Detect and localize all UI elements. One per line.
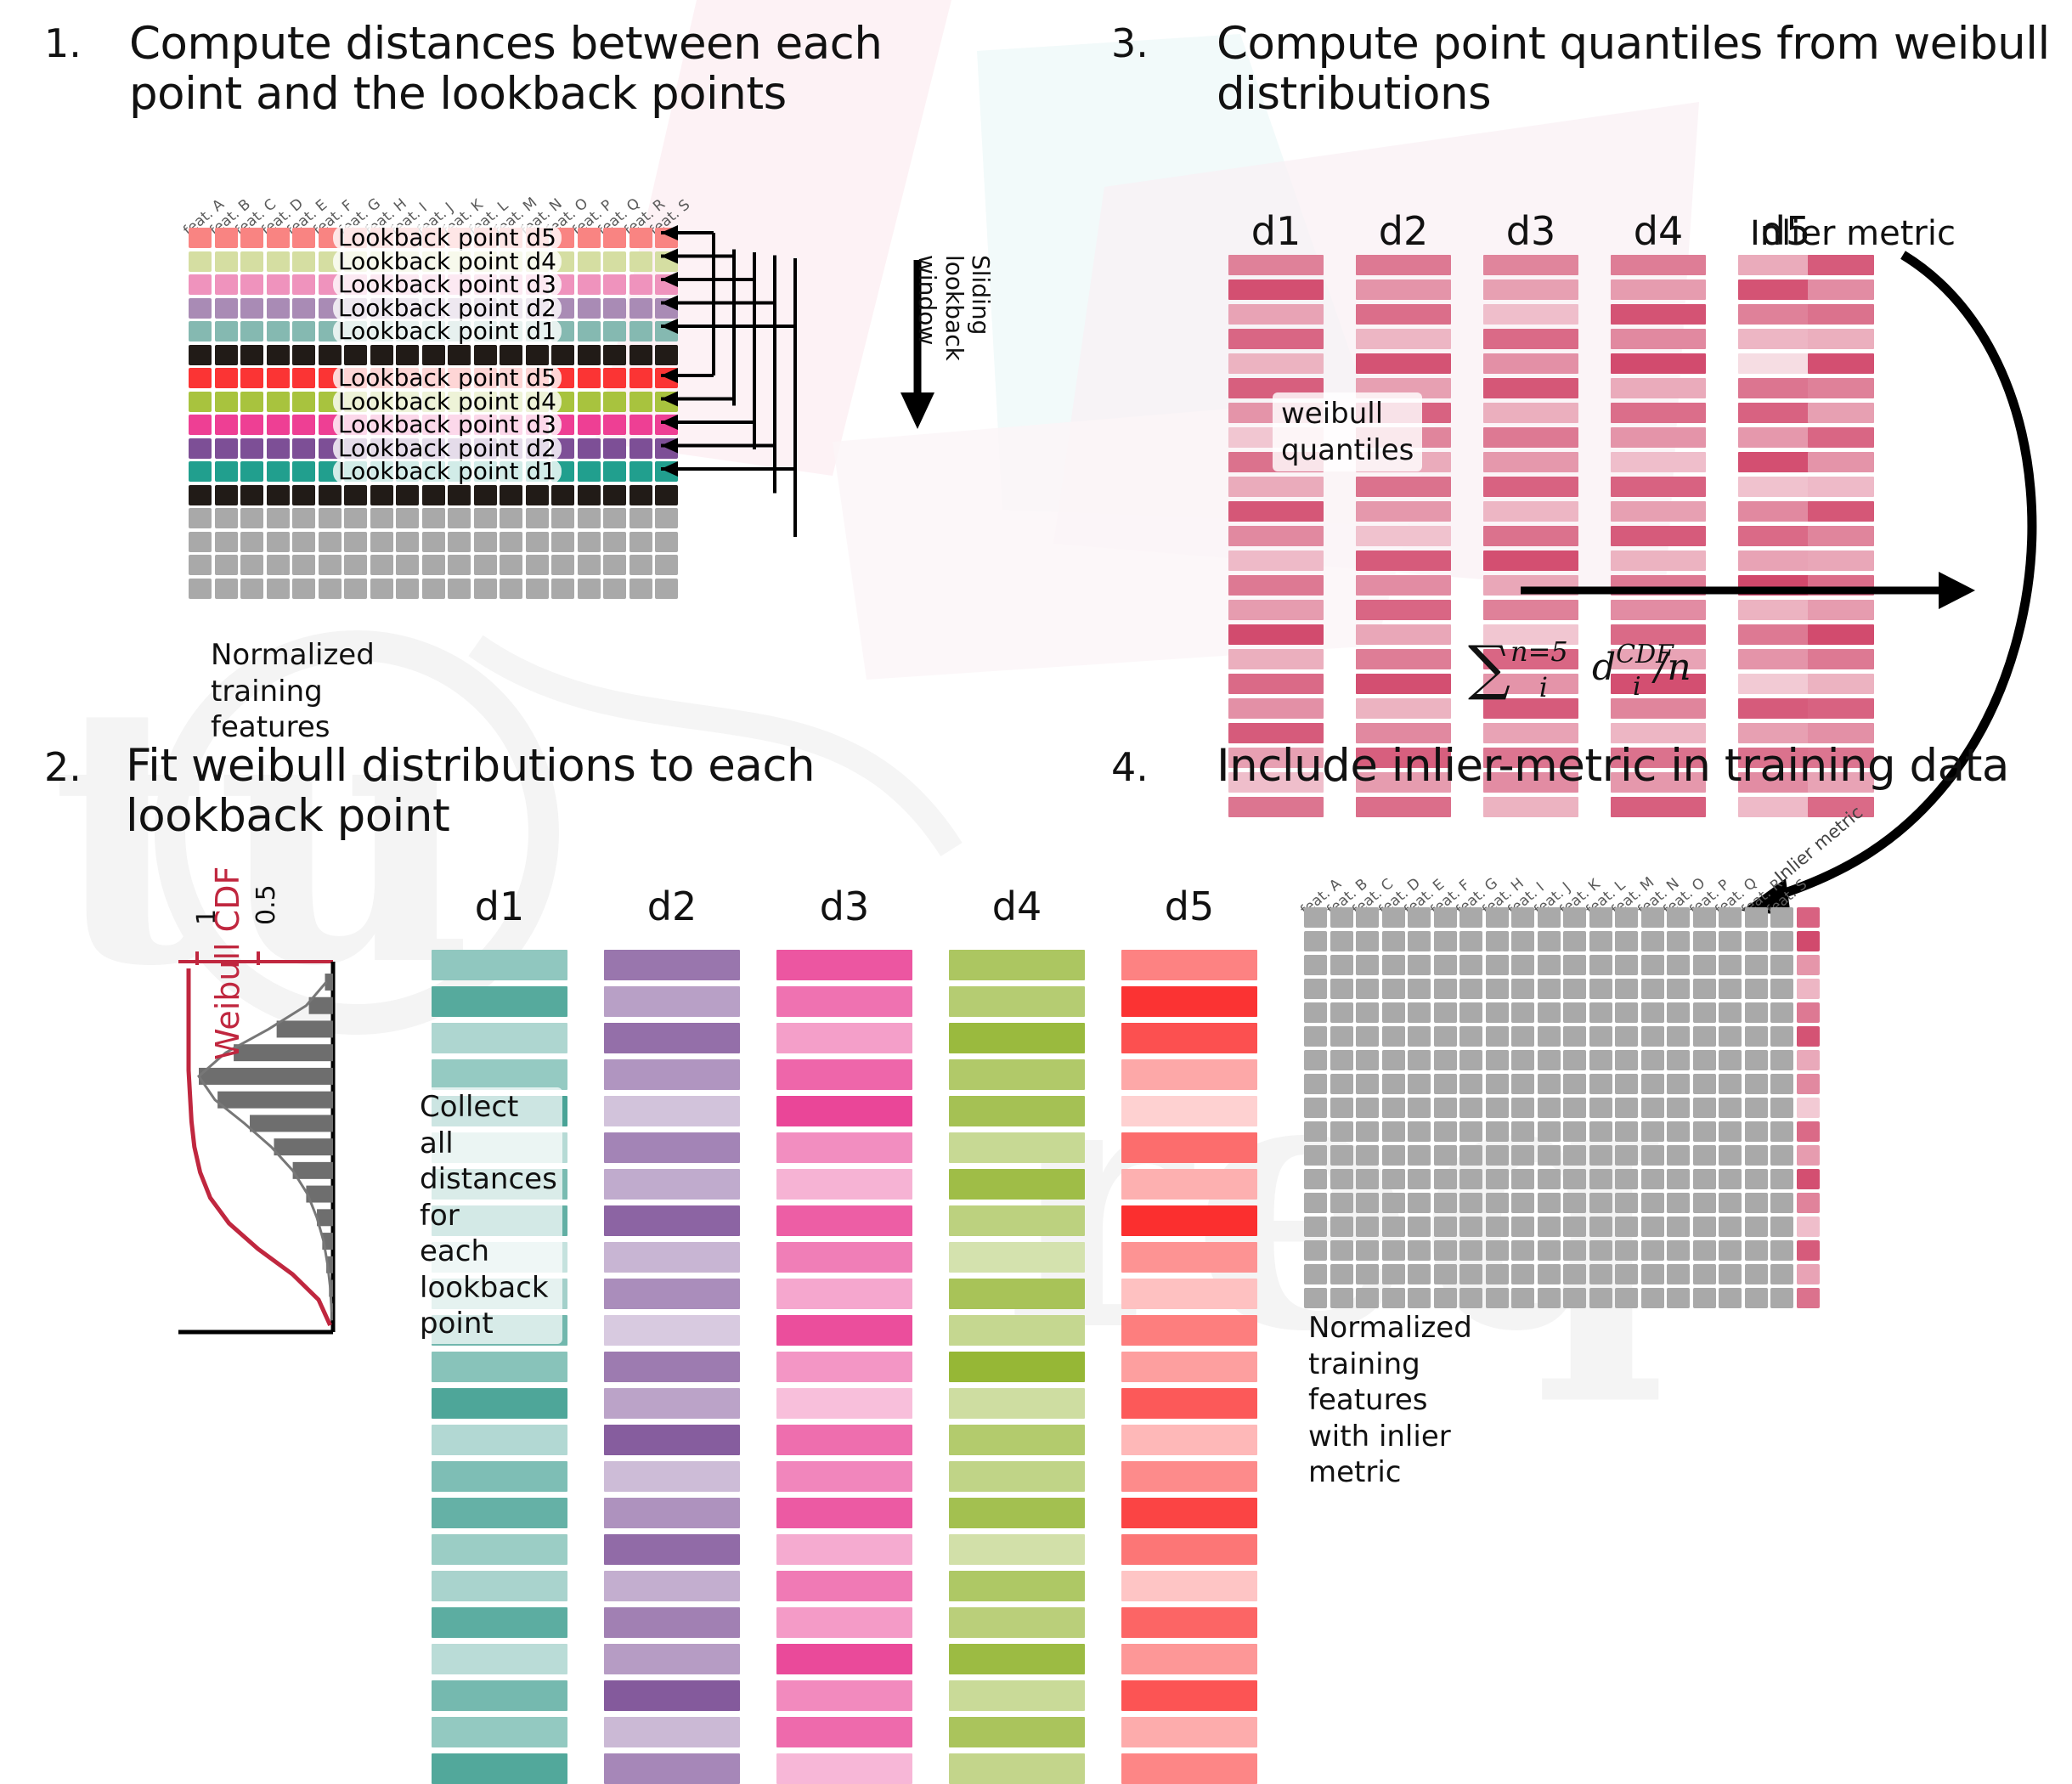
- quantile-bar: [1483, 378, 1578, 398]
- quantile-bar: [1483, 329, 1578, 349]
- feature-cell: [1745, 1074, 1768, 1094]
- feature-cell: [1382, 1098, 1405, 1118]
- feature-cell: [1511, 1145, 1534, 1166]
- feature-cell: [1693, 1002, 1716, 1023]
- distance-bar: [776, 1388, 912, 1419]
- feature-cell: [1304, 1288, 1327, 1308]
- distance-bar: [432, 1607, 567, 1638]
- feature-cell: [292, 461, 315, 482]
- feature-cell: [1511, 907, 1534, 928]
- feature-cell: [1667, 1098, 1690, 1118]
- feature-cell: [630, 555, 652, 575]
- feature-cell: [1408, 1169, 1431, 1189]
- feature-cell: [1408, 1026, 1431, 1047]
- feature-cell: [474, 508, 497, 528]
- feature-cell: [240, 368, 263, 388]
- feature-cell: [240, 298, 263, 319]
- feature-cell: [1745, 1121, 1768, 1142]
- feature-cell: [1719, 1217, 1742, 1237]
- feature-cell: [1538, 1098, 1561, 1118]
- distance-bar: [949, 1571, 1085, 1601]
- distance-bar: [776, 950, 912, 980]
- distance-bar: [1121, 1352, 1257, 1382]
- feature-cell: [1719, 1002, 1742, 1023]
- distance-bar: [432, 1753, 567, 1784]
- feature-cell: [267, 251, 290, 272]
- feature-cell: [1563, 1217, 1586, 1237]
- feature-cell: [1434, 1074, 1457, 1094]
- quantile-bar: [1228, 526, 1324, 546]
- feature-cell: [655, 555, 678, 575]
- distance-bar: [949, 1352, 1085, 1382]
- feature-cell: [1330, 1240, 1353, 1261]
- feature-cell: [1745, 1217, 1768, 1237]
- feature-cell: [1538, 1002, 1561, 1023]
- inlier-metric-cell: [1797, 1264, 1820, 1284]
- feature-cell: [319, 345, 342, 365]
- distance-bar: [949, 1498, 1085, 1528]
- feature-cell: [1615, 979, 1638, 999]
- feature-cell: [1719, 1169, 1742, 1189]
- feature-cell: [1615, 1288, 1638, 1308]
- feature-cell: [1641, 1264, 1664, 1284]
- quantile-bar: [1228, 674, 1324, 694]
- distance-bar: [1121, 1461, 1257, 1492]
- distance-bar: [776, 1753, 912, 1784]
- feature-cell: [1304, 1169, 1327, 1189]
- feature-cell: [474, 555, 497, 575]
- feature-cell: [1304, 1240, 1327, 1261]
- quantile-bar: [1228, 501, 1324, 522]
- feature-cell: [267, 508, 290, 528]
- distance-column-header-d5: d5: [1121, 884, 1257, 929]
- distance-column-header-d2: d2: [604, 884, 740, 929]
- distance-bar: [432, 1498, 567, 1528]
- feature-cell: [1641, 1002, 1664, 1023]
- feature-cell: [1434, 1169, 1457, 1189]
- feature-cell: [267, 274, 290, 295]
- distance-bar: [432, 1059, 567, 1090]
- quantile-bar: [1356, 797, 1451, 817]
- distance-bar: [1121, 1425, 1257, 1455]
- quantile-bar: [1356, 575, 1451, 596]
- feature-cell: [1408, 1264, 1431, 1284]
- feature-cell: [1382, 1193, 1405, 1213]
- distance-bar: [776, 1607, 912, 1638]
- feature-cell: [1408, 1002, 1431, 1023]
- feature-cell: [500, 579, 522, 599]
- feature-cell: [655, 579, 678, 599]
- distance-bar: [949, 1607, 1085, 1638]
- feature-cell: [1459, 907, 1482, 928]
- quantile-bar: [1611, 304, 1706, 325]
- feature-cell: [1511, 931, 1534, 951]
- quantile-bar: [1483, 255, 1578, 275]
- feature-cell: [1538, 1121, 1561, 1142]
- feature-cell: [422, 345, 445, 365]
- distance-bar: [604, 1352, 740, 1382]
- distance-bar: [776, 1242, 912, 1273]
- feature-cell: [1770, 1026, 1793, 1047]
- feature-cell: [1408, 1240, 1431, 1261]
- feature-cell: [1511, 1074, 1534, 1094]
- feature-cell: [474, 579, 497, 599]
- feature-cell: [1486, 1098, 1509, 1118]
- feature-cell: [1408, 955, 1431, 975]
- distance-bar: [604, 1461, 740, 1492]
- feature-cell: [422, 532, 445, 552]
- feature-cell: [578, 321, 601, 342]
- inlier-metric-cell: [1797, 979, 1820, 999]
- distance-bar: [432, 1680, 567, 1711]
- feature-cell: [1641, 979, 1664, 999]
- feature-cell: [1641, 1169, 1664, 1189]
- distance-bar: [776, 1205, 912, 1236]
- feature-cell: [603, 532, 626, 552]
- distance-bar: [949, 950, 1085, 980]
- feature-cell: [1667, 1074, 1690, 1094]
- feature-cell: [1641, 955, 1664, 975]
- distance-bar: [604, 1279, 740, 1309]
- feature-cell: [1408, 1098, 1431, 1118]
- feature-cell: [1356, 1169, 1379, 1189]
- feature-cell: [240, 345, 263, 365]
- feature-cell: [319, 508, 342, 528]
- feature-cell: [292, 415, 315, 435]
- distance-bar: [949, 1388, 1085, 1419]
- feature-cell: [1434, 1098, 1457, 1118]
- distance-bar: [1121, 1315, 1257, 1346]
- distance-bar: [604, 1534, 740, 1565]
- feature-cell: [189, 438, 212, 459]
- feature-cell: [1615, 1050, 1638, 1070]
- feature-cell: [630, 368, 652, 388]
- feature-cell: [1434, 979, 1457, 999]
- feature-cell: [267, 415, 290, 435]
- distance-bar: [949, 1205, 1085, 1236]
- feature-cell: [215, 579, 238, 599]
- feature-cell: [396, 345, 419, 365]
- feature-cell: [267, 532, 290, 552]
- feature-cell: [1538, 1145, 1561, 1166]
- feature-cell: [603, 274, 626, 295]
- feature-cell: [344, 345, 367, 365]
- feature-cell: [1719, 1288, 1742, 1308]
- distance-bar: [776, 1315, 912, 1346]
- feature-cell: [578, 415, 601, 435]
- feature-cell: [1511, 1193, 1534, 1213]
- feature-cell: [396, 532, 419, 552]
- feature-cell: [603, 415, 626, 435]
- lookback-point-label: Lookback point d1: [333, 319, 562, 344]
- inlier-metric-cell: [1797, 1193, 1820, 1213]
- feature-cell: [1408, 1145, 1431, 1166]
- feature-cell: [578, 274, 601, 295]
- feature-cell: [267, 579, 290, 599]
- distance-bar: [432, 1534, 567, 1565]
- distance-bar: [949, 1425, 1085, 1455]
- feature-cell: [1434, 1264, 1457, 1284]
- feature-cell: [189, 251, 212, 272]
- feature-cell: [215, 274, 238, 295]
- feature-cell: [1770, 907, 1793, 928]
- inlier-metric-cell: [1797, 907, 1820, 928]
- feature-cell: [1356, 955, 1379, 975]
- feature-cell: [1511, 1098, 1534, 1118]
- distance-bar: [1121, 986, 1257, 1017]
- step-3-number: 3.: [1111, 24, 1149, 63]
- feature-cell: [1693, 1050, 1716, 1070]
- feature-cell: [1615, 1074, 1638, 1094]
- quantile-bar: [1356, 304, 1451, 325]
- distance-bar: [432, 1388, 567, 1419]
- feature-cell: [1693, 1145, 1716, 1166]
- feature-cell: [1486, 1002, 1509, 1023]
- feature-cell: [215, 251, 238, 272]
- feature-cell: [1693, 955, 1716, 975]
- feature-cell: [1538, 1050, 1561, 1070]
- feature-cell: [1641, 1288, 1664, 1308]
- feature-cell: [1486, 1264, 1509, 1284]
- feature-cell: [422, 485, 445, 505]
- feature-cell: [370, 532, 393, 552]
- feature-cell: [1719, 1145, 1742, 1166]
- feature-cell: [189, 461, 212, 482]
- feature-cell: [1615, 1169, 1638, 1189]
- feature-cell: [1770, 1002, 1793, 1023]
- feature-cell: [215, 345, 238, 365]
- quantile-bar: [1228, 698, 1324, 719]
- feature-cell: [319, 532, 342, 552]
- feature-cell: [1563, 1240, 1586, 1261]
- quantile-bar: [1356, 550, 1451, 571]
- feature-cell: [1330, 1288, 1353, 1308]
- feature-cell: [1745, 1288, 1768, 1308]
- distance-bar: [1121, 1279, 1257, 1309]
- feature-cell: [578, 251, 601, 272]
- feature-cell: [630, 321, 652, 342]
- feature-cell: [1745, 1026, 1768, 1047]
- feature-cell: [1745, 979, 1768, 999]
- feature-cell: [1459, 1098, 1482, 1118]
- feature-cell: [1408, 1217, 1431, 1237]
- feature-cell: [603, 345, 626, 365]
- step-4-number: 4.: [1111, 748, 1149, 787]
- feature-cell: [1719, 1240, 1742, 1261]
- feature-cell: [396, 579, 419, 599]
- distance-bar: [604, 1059, 740, 1090]
- feature-cell: [1563, 931, 1586, 951]
- quantile-bar: [1483, 797, 1578, 817]
- feature-cell: [1330, 1121, 1353, 1142]
- feature-cell: [267, 438, 290, 459]
- feature-cell: [1434, 955, 1457, 975]
- distance-bar: [776, 1461, 912, 1492]
- feature-cell: [267, 345, 290, 365]
- feature-cell: [292, 228, 315, 248]
- feature-cell: [240, 321, 263, 342]
- feature-cell: [189, 485, 212, 505]
- feature-cell: [1589, 1026, 1612, 1047]
- distance-column-header-d3: d3: [776, 884, 912, 929]
- feature-cell: [215, 485, 238, 505]
- feature-cell: [1719, 979, 1742, 999]
- distance-bar: [1121, 1717, 1257, 1747]
- inlier-metric-cell: [1797, 1026, 1820, 1047]
- step-3-title: Compute point quantiles from weibull dis…: [1217, 19, 2066, 120]
- distance-bar: [1121, 1388, 1257, 1419]
- feature-cell: [1304, 955, 1327, 975]
- feature-cell: [215, 392, 238, 412]
- quantile-bar: [1228, 255, 1324, 275]
- feature-cell: [1667, 1240, 1690, 1261]
- feature-cell: [1667, 907, 1690, 928]
- feature-cell: [1408, 907, 1431, 928]
- feature-cell: [1408, 1074, 1431, 1094]
- feature-cell: [1511, 1264, 1534, 1284]
- feature-cell: [215, 321, 238, 342]
- inlier-metric-cell: [1797, 955, 1820, 975]
- feature-cell: [1719, 1193, 1742, 1213]
- feature-cell: [1538, 1193, 1561, 1213]
- feature-cell: [1408, 979, 1431, 999]
- feature-cell: [1538, 1026, 1561, 1047]
- feature-cell: [1304, 1145, 1327, 1166]
- feature-cell: [1356, 907, 1379, 928]
- quantile-bar: [1483, 452, 1578, 472]
- feature-cell: [1408, 1121, 1431, 1142]
- feature-cell: [630, 392, 652, 412]
- feature-cell: [240, 392, 263, 412]
- feature-cell: [1459, 1217, 1482, 1237]
- quantile-bar: [1483, 403, 1578, 423]
- feature-cell: [1459, 1026, 1482, 1047]
- inlier-metric-cell: [1797, 1217, 1820, 1237]
- feature-cell: [267, 228, 290, 248]
- feature-cell: [578, 485, 601, 505]
- feature-cell: [292, 321, 315, 342]
- distance-bar: [432, 1461, 567, 1492]
- distance-bar: [776, 1279, 912, 1309]
- feature-cell: [1770, 1193, 1793, 1213]
- feature-cell: [1693, 1264, 1716, 1284]
- feature-cell: [292, 579, 315, 599]
- feature-cell: [578, 508, 601, 528]
- feature-cell: [240, 532, 263, 552]
- sum-symbol: ∑: [1468, 633, 1510, 703]
- feature-cell: [1589, 1193, 1612, 1213]
- feature-cell: [526, 345, 549, 365]
- feature-cell: [1486, 1145, 1509, 1166]
- feature-cell: [1667, 1121, 1690, 1142]
- feature-cell: [551, 532, 574, 552]
- feature-cell: [1356, 1264, 1379, 1284]
- feature-cell: [1641, 1098, 1664, 1118]
- distance-bar: [1121, 1205, 1257, 1236]
- feature-cell: [474, 485, 497, 505]
- feature-cell: [1434, 1240, 1457, 1261]
- feature-cell: [1486, 955, 1509, 975]
- feature-cell: [1770, 955, 1793, 975]
- feature-cell: [1486, 1026, 1509, 1047]
- feature-cell: [1745, 955, 1768, 975]
- inlier-metric-cell: [1797, 1288, 1820, 1308]
- feature-cell: [500, 485, 522, 505]
- quantile-bar: [1611, 477, 1706, 497]
- quantile-bar: [1356, 279, 1451, 300]
- distance-bar: [949, 1644, 1085, 1674]
- feature-cell: [292, 251, 315, 272]
- feature-cell: [267, 555, 290, 575]
- feature-cell: [1434, 1145, 1457, 1166]
- feature-cell: [1693, 979, 1716, 999]
- feature-cell: [1538, 979, 1561, 999]
- feature-cell: [344, 555, 367, 575]
- feature-cell: [1434, 931, 1457, 951]
- feature-cell: [448, 508, 471, 528]
- distance-bar: [432, 1023, 567, 1053]
- feature-cell: [1563, 1288, 1586, 1308]
- feature-cell: [1615, 1145, 1638, 1166]
- feature-cell: [1304, 931, 1327, 951]
- feature-cell: [319, 555, 342, 575]
- quantile-bar: [1356, 624, 1451, 645]
- feature-cell: [630, 508, 652, 528]
- quantile-bar: [1228, 304, 1324, 325]
- feature-cell: [1563, 1026, 1586, 1047]
- feature-cell: [396, 555, 419, 575]
- feature-cell: [1615, 1121, 1638, 1142]
- distance-bar: [604, 1571, 740, 1601]
- feature-cell: [344, 579, 367, 599]
- feature-cell: [1356, 1288, 1379, 1308]
- distance-bar: [604, 1205, 740, 1236]
- feature-cell: [1304, 1026, 1327, 1047]
- feature-cell: [1641, 1240, 1664, 1261]
- feature-cell: [1511, 1050, 1534, 1070]
- feature-cell: [1563, 1002, 1586, 1023]
- quantile-column-header-d2: d2: [1356, 208, 1451, 254]
- feature-cell: [551, 345, 574, 365]
- feature-cell: [1382, 1169, 1405, 1189]
- feature-cell: [448, 579, 471, 599]
- feature-cell: [1511, 955, 1534, 975]
- inlier-metric-cell: [1797, 1169, 1820, 1189]
- feature-cell: [1382, 907, 1405, 928]
- feature-cell: [1563, 1050, 1586, 1070]
- feature-cell: [1486, 907, 1509, 928]
- feature-cell: [1589, 1217, 1612, 1237]
- feature-cell: [370, 485, 393, 505]
- feature-cell: [189, 579, 212, 599]
- inlier-metric-cell: [1797, 1098, 1820, 1118]
- feature-cell: [1538, 931, 1561, 951]
- feature-cell: [578, 392, 601, 412]
- feature-cell: [1589, 1240, 1612, 1261]
- inlier-metric-cell: [1797, 1145, 1820, 1166]
- quantile-bar: [1483, 304, 1578, 325]
- feature-cell: [1382, 1288, 1405, 1308]
- weibull-cdf-axis-label: Weibull CDF: [209, 867, 246, 1060]
- sum-lower-limit: i: [1539, 671, 1548, 703]
- histogram-bar: [250, 1115, 333, 1132]
- feature-cell: [1356, 1193, 1379, 1213]
- training-feature-grid-step4: [1304, 907, 1820, 1308]
- feature-cell: [1693, 1288, 1716, 1308]
- distance-bar: [776, 1352, 912, 1382]
- distance-bar: [776, 1571, 912, 1601]
- distance-bar: [1121, 1571, 1257, 1601]
